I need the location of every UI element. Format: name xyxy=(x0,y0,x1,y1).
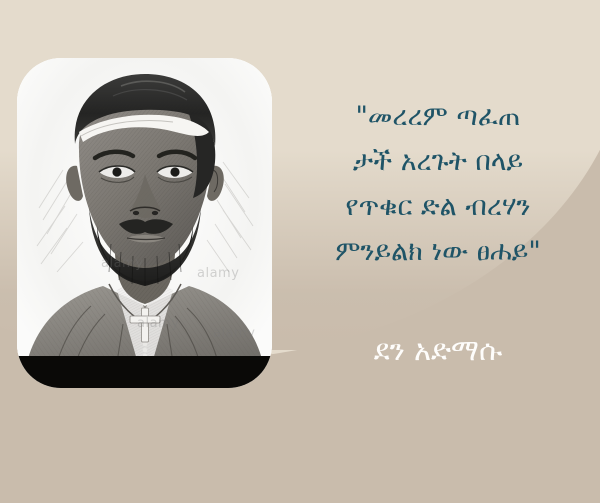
quote-line-3: የጥቁር ድል ብረሃን xyxy=(282,184,594,229)
portrait-engraving-image xyxy=(17,58,272,388)
quote-line-2: ታች አረጉት በላይ xyxy=(282,139,594,184)
quote-line-1: "መረረም ጣፈጠ xyxy=(282,94,594,139)
portrait-card-bottom-bar xyxy=(17,356,272,388)
quote-card-canvas: alamy alamy alamy alamy "መረረም ጣፈጠ ታች አረጉ… xyxy=(0,0,600,503)
portrait-card: alamy alamy alamy alamy xyxy=(17,58,272,388)
quote-text-block: "መረረም ጣፈጠ ታች አረጉት በላይ የጥቁር ድል ብረሃን ምንይልክ… xyxy=(282,94,594,274)
quote-attribution: ደን አድማሱ xyxy=(282,330,594,370)
quote-line-4: ምንይልክ ነው ፀሐይ" xyxy=(282,229,594,274)
